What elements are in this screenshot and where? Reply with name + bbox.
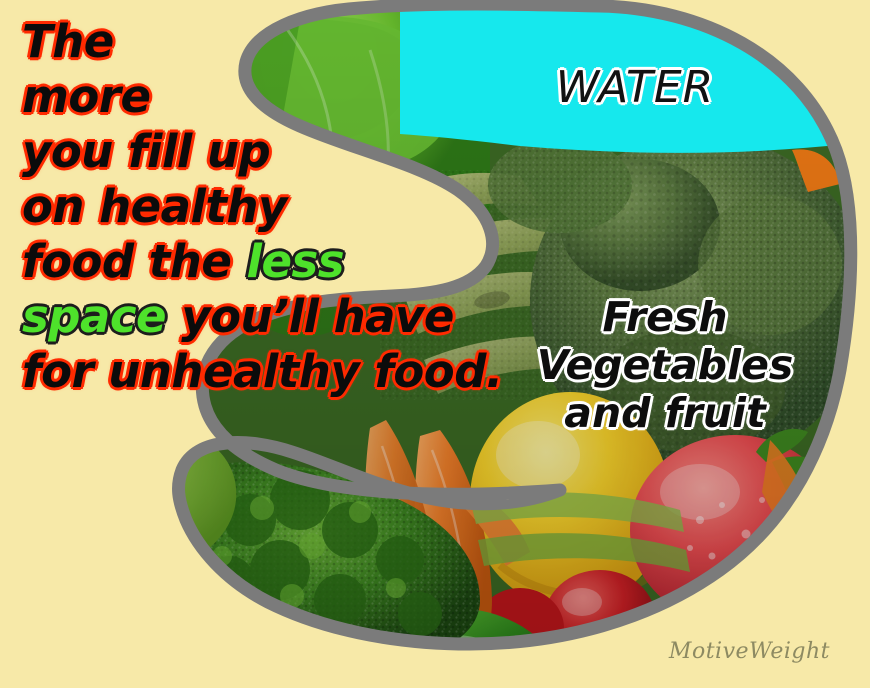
quote-line-4: on healthy (22, 179, 452, 234)
watermark: MotiveWeight (669, 639, 830, 664)
poster-canvas: The more you fill up on healthy food the… (0, 0, 870, 688)
quote-line-5: food the less (22, 234, 452, 289)
quote-segment: The (22, 15, 114, 68)
food-label-line-2: Vegetables (520, 341, 810, 389)
quote-segment: on healthy (22, 180, 287, 233)
water-label-text: WATER (556, 62, 714, 113)
quote-segment: you’ll have (166, 290, 454, 343)
quote-segment: food the (22, 235, 247, 288)
quote-segment: more (22, 70, 151, 123)
food-label-line-1: Fresh (520, 293, 810, 341)
quote-segment: for unhealthy food. (22, 345, 503, 398)
quote-text-block: The more you fill up on healthy food the… (22, 14, 452, 399)
food-label-line-3: and fruit (520, 389, 810, 437)
quote-line-2: more (22, 69, 452, 124)
water-label: WATER (470, 62, 800, 113)
quote-highlight-less: less (247, 235, 345, 288)
quote-line-3: you fill up (22, 124, 452, 179)
quote-line-7: for unhealthy food. (22, 344, 452, 399)
quote-highlight-space: space (22, 290, 166, 343)
quote-line-1: The (22, 14, 452, 69)
quote-segment: you fill up (22, 125, 270, 178)
quote-line-6: space you’ll have (22, 289, 452, 344)
food-label: Fresh Vegetables and fruit (520, 293, 810, 437)
